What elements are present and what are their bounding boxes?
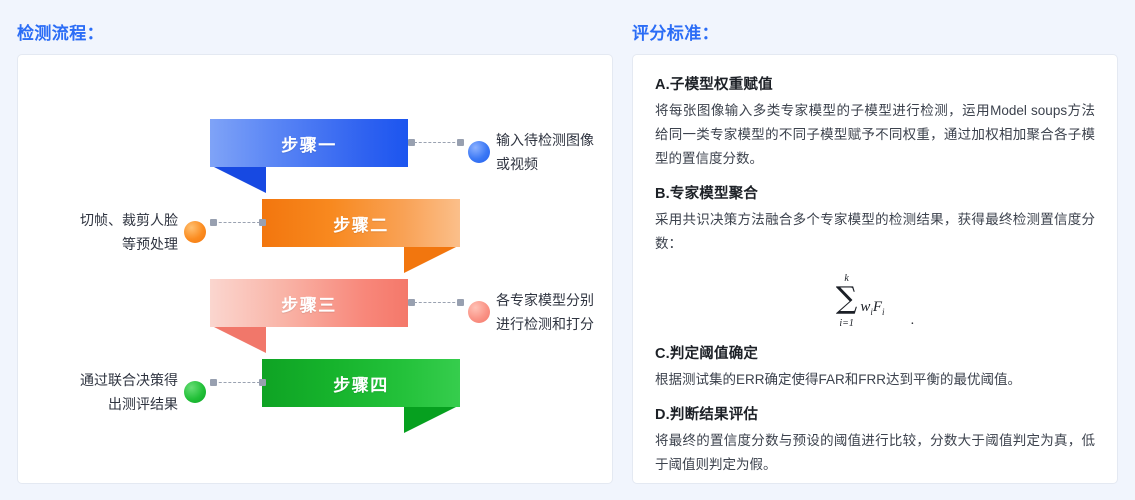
confidence-score-formula: k ∑ i=1 wiFi . [655,268,1095,331]
step-2-caption: 切帧、裁剪人脸 等预处理 [38,208,178,256]
right-panel-title: 评分标准： [632,19,719,44]
step-1-connector [408,136,490,150]
connector-dashed-line [414,142,460,143]
step-4-label: 步骤四 [262,359,460,407]
step-4-connector [184,376,266,390]
formula-trailing-period: . [911,313,915,329]
connector-nub-end [210,379,217,386]
step-3-ribbon-fold [214,327,266,353]
step-2-ribbon[interactable]: 步骤二 [262,199,460,247]
step-1-ribbon[interactable]: 步骤一 [210,119,408,167]
criterion-b-body: 采用共识决策方法融合多个专家模型的检测结果，获得最终检测置信度分数： [655,208,1095,256]
operand-w: w [860,299,870,315]
connector-nub-start [259,379,266,386]
criterion-c-body: 根据测试集的ERR确定使得FAR和FRR达到平衡的最优阈值。 [655,368,1095,392]
connector-nub-end [210,219,217,226]
step-3-ribbon[interactable]: 步骤三 [210,279,408,327]
connector-nub-start [259,219,266,226]
step-2-ribbon-fold [404,247,456,273]
step-3-label: 步骤三 [210,279,408,327]
step-4-ribbon[interactable]: 步骤四 [262,359,460,407]
step-4-bubble-icon [184,381,206,403]
criterion-b-heading: B.专家模型聚合 [655,182,1095,203]
connector-dashed-line [214,222,260,223]
operand-f: F [873,299,882,315]
step-4-caption: 通过联合决策得 出测评结果 [38,368,178,416]
flow-step-1: 步骤一 输入待检测图像 或视频 [18,119,614,189]
criterion-d-heading: D.判断结果评估 [655,403,1095,424]
step-1-label: 步骤一 [210,119,408,167]
flow-step-3: 步骤三 各专家模型分别 进行检测和打分 [18,279,614,349]
flow-step-4: 步骤四 通过联合决策得 出测评结果 [18,359,614,429]
connector-nub-end [457,139,464,146]
step-1-caption: 输入待检测图像 或视频 [496,128,616,176]
formula-operand: wiFi [860,299,884,317]
step-3-caption: 各专家模型分别 进行检测和打分 [496,288,616,336]
left-panel-title: 检测流程： [17,19,104,44]
step-2-connector [184,216,266,230]
step-4-ribbon-fold [404,407,456,433]
scoring-criteria-card: A.子模型权重赋值 将每张图像输入多类专家模型的子模型进行检测，运用Model … [632,54,1118,484]
operand-f-subscript: i [882,307,885,317]
summation-symbol: k ∑ i=1 [836,268,857,331]
criterion-c-heading: C.判定阈值确定 [655,342,1095,363]
criterion-d-body: 将最终的置信度分数与预设的阈值进行比较，分数大于阈值判定为真，低于阈值则判定为假… [655,429,1095,477]
step-1-ribbon-fold [214,167,266,193]
step-1-bubble-icon [468,141,490,163]
connector-nub-end [457,299,464,306]
step-3-bubble-icon [468,301,490,323]
flow-step-2: 步骤二 切帧、裁剪人脸 等预处理 [18,199,614,269]
step-2-bubble-icon [184,221,206,243]
summation-lower-limit: i=1 [839,318,854,329]
connector-dashed-line [214,382,260,383]
detection-flow-card: 步骤一 输入待检测图像 或视频 步骤二 切帧、裁剪 [17,54,613,484]
step-2-label: 步骤二 [262,199,460,247]
criterion-a-body: 将每张图像输入多类专家模型的子模型进行检测，运用Model soups方法给同一… [655,99,1095,171]
sigma-glyph: ∑ [836,281,857,316]
criterion-a-heading: A.子模型权重赋值 [655,73,1095,94]
page-root: 检测流程： 步骤一 输入待检测图像 或视频 步骤二 [0,0,1135,500]
step-3-connector [408,296,490,310]
connector-dashed-line [414,302,460,303]
